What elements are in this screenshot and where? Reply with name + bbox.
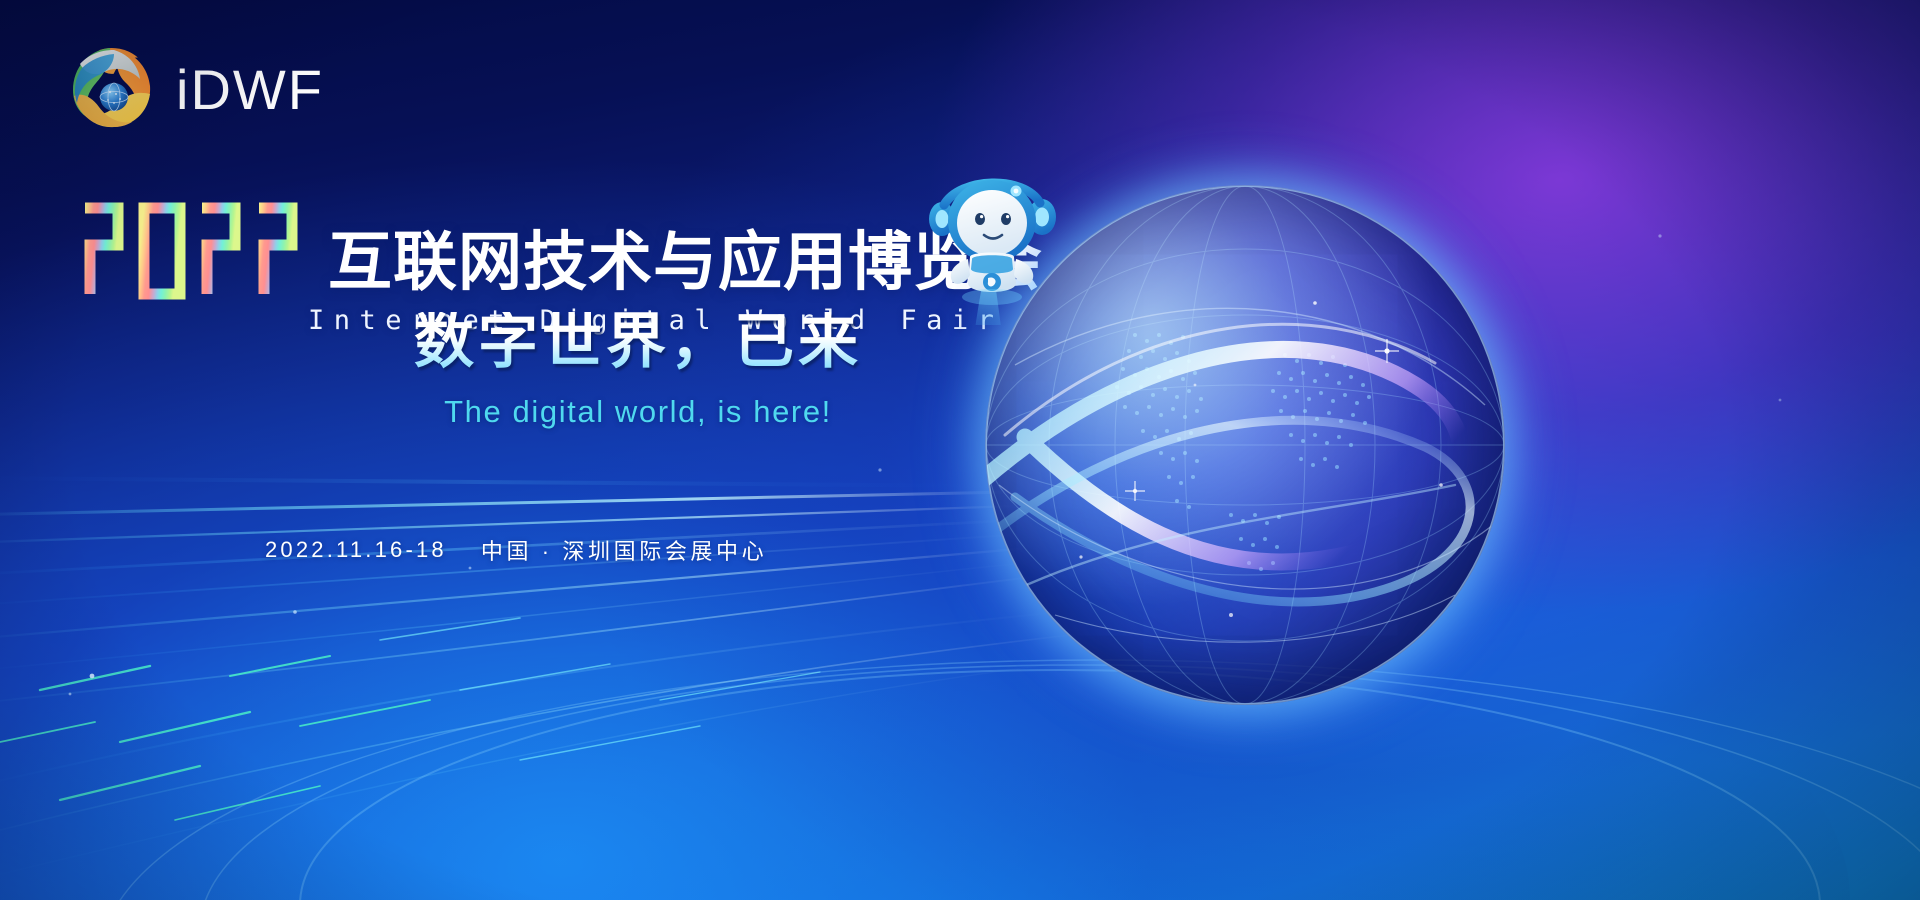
- slogan-block: 数字世界，已来 The digital world, is here!: [288, 312, 988, 512]
- poster-canvas: iDWF: [0, 0, 1920, 900]
- brand-logo[interactable]: iDWF: [66, 42, 324, 134]
- slogan-en: The digital world, is here!: [444, 394, 832, 430]
- event-date: 2022.11.16-18: [265, 537, 447, 563]
- event-venue: 中国 · 深圳国际会展中心: [481, 534, 767, 566]
- year-2022: [78, 182, 306, 300]
- slogan-cn: 数字世界，已来: [414, 312, 862, 372]
- robot-mascot: [920, 155, 1070, 325]
- headline-block: 互联网技术与应用博览会: [78, 182, 1043, 300]
- event-info: 2022.11.16-18 中国 · 深圳国际会展中心: [265, 534, 767, 566]
- brand-wordmark: iDWF: [176, 62, 324, 118]
- idwf-swirl-globe-logo: [66, 42, 158, 134]
